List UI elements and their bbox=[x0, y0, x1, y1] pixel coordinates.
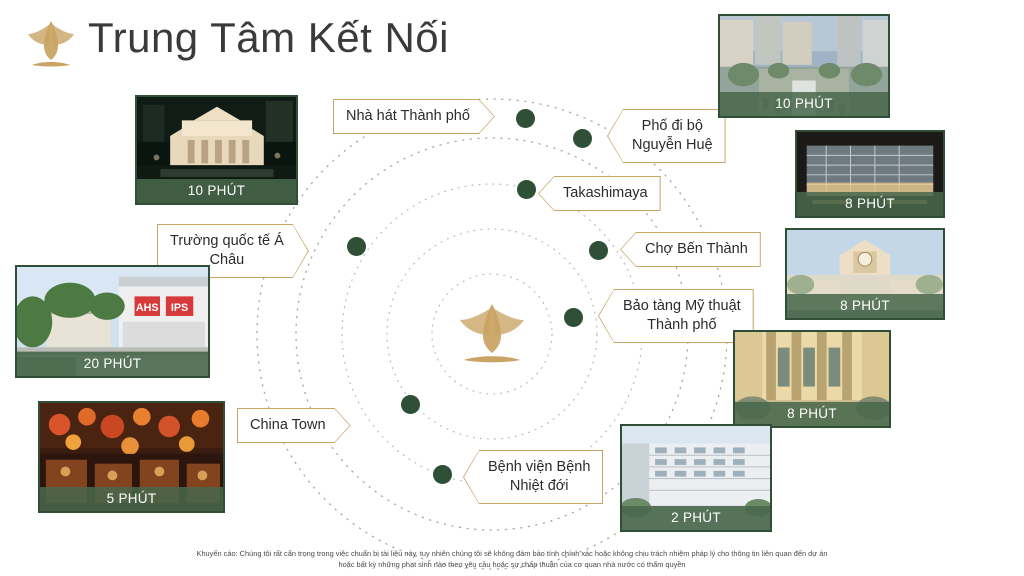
card-nguyen-hue-street-caption: 10 PHÚT bbox=[720, 92, 888, 116]
card-takashimaya-mall-caption: 8 PHÚT bbox=[797, 192, 943, 216]
disclaimer-line-2: hoặc bất kỳ những phạt sinh nào theo yêu… bbox=[10, 560, 1014, 571]
card-china-town-market[interactable]: 5 PHÚT bbox=[38, 401, 225, 513]
disclaimer-line-1: Khuyến cáo: Chúng tôi rất cẩn trọng tron… bbox=[10, 549, 1014, 560]
slide-canvas: Trung Tâm Kết Nối Nhà hát Thành phố bbox=[0, 0, 1024, 576]
card-fine-arts-museum-caption: 8 PHÚT bbox=[735, 402, 889, 426]
label-takashimaya[interactable]: Takashimaya bbox=[538, 176, 661, 211]
node-truong-quoc-te[interactable] bbox=[348, 238, 365, 255]
card-nguyen-hue-street[interactable]: 10 PHÚT bbox=[718, 14, 890, 118]
dragonfly-emblem-icon bbox=[452, 300, 532, 368]
node-pho-di-bo[interactable] bbox=[574, 130, 591, 147]
card-tropical-diseases-hospital[interactable]: 2 PHÚT bbox=[620, 424, 772, 532]
label-pho-di-bo[interactable]: Phố đi bộ Nguyễn Huệ bbox=[607, 109, 726, 163]
svg-text:IPS: IPS bbox=[171, 302, 188, 314]
label-china-town-text: China Town bbox=[238, 409, 350, 442]
node-china-town[interactable] bbox=[402, 396, 419, 413]
node-benh-vien[interactable] bbox=[434, 466, 451, 483]
card-fine-arts-museum[interactable]: 8 PHÚT bbox=[733, 330, 891, 428]
node-nha-hat[interactable] bbox=[517, 110, 534, 127]
node-cho-ben-thanh[interactable] bbox=[590, 242, 607, 259]
card-asian-international-school-caption: 20 PHÚT bbox=[17, 352, 208, 376]
node-takashimaya[interactable] bbox=[518, 181, 535, 198]
card-tropical-diseases-hospital-caption: 2 PHÚT bbox=[622, 506, 770, 530]
label-nha-hat-text: Nhà hát Thành phố bbox=[334, 100, 494, 133]
label-takashimaya-text: Takashimaya bbox=[539, 177, 660, 210]
label-china-town[interactable]: China Town bbox=[237, 408, 351, 443]
card-ben-thanh-market[interactable]: 8 PHÚT bbox=[785, 228, 945, 320]
card-takashimaya-mall[interactable]: 8 PHÚT bbox=[795, 130, 945, 218]
card-asian-international-school[interactable]: AHS IPS 20 PHÚT bbox=[15, 265, 210, 378]
label-bao-tang[interactable]: Bảo tàng Mỹ thuật Thành phố bbox=[598, 289, 754, 343]
label-nha-hat[interactable]: Nhà hát Thành phố bbox=[333, 99, 495, 134]
label-benh-vien[interactable]: Bệnh viện Bệnh Nhiệt đới bbox=[463, 450, 603, 504]
label-cho-ben-thanh-text: Chợ Bến Thành bbox=[621, 233, 760, 266]
label-benh-vien-text: Bệnh viện Bệnh Nhiệt đới bbox=[464, 451, 602, 503]
label-cho-ben-thanh[interactable]: Chợ Bến Thành bbox=[620, 232, 761, 267]
disclaimer: Khuyến cáo: Chúng tôi rất cẩn trọng tron… bbox=[0, 549, 1024, 570]
card-opera-house[interactable]: 10 PHÚT bbox=[135, 95, 298, 205]
card-ben-thanh-market-caption: 8 PHÚT bbox=[787, 294, 943, 318]
card-opera-house-caption: 10 PHÚT bbox=[137, 179, 296, 203]
card-china-town-market-caption: 5 PHÚT bbox=[40, 487, 223, 511]
label-pho-di-bo-text: Phố đi bộ Nguyễn Huệ bbox=[608, 110, 725, 162]
label-bao-tang-text: Bảo tàng Mỹ thuật Thành phố bbox=[599, 290, 753, 342]
svg-text:AHS: AHS bbox=[136, 302, 159, 314]
node-bao-tang[interactable] bbox=[565, 309, 582, 326]
